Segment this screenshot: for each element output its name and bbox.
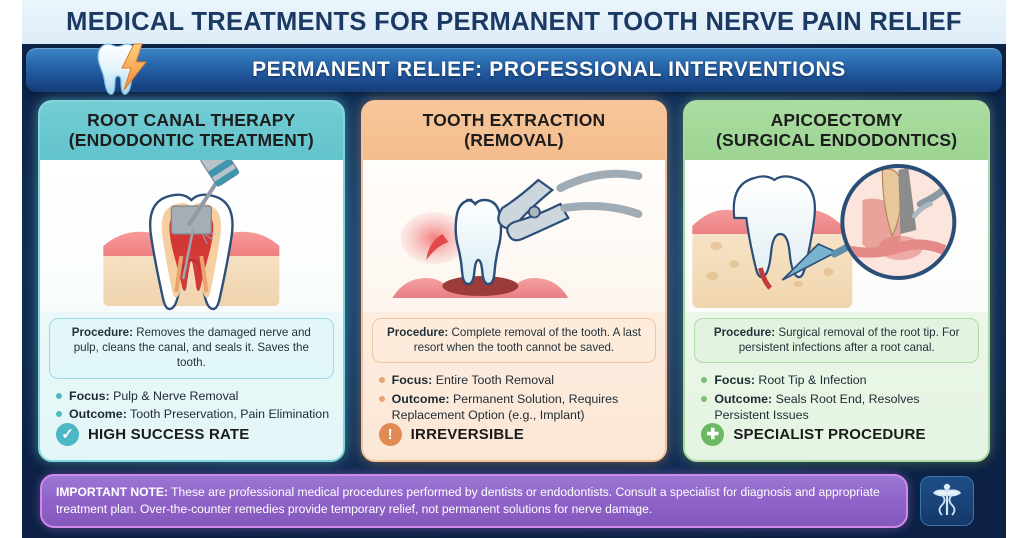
list-item: Outcome: Permanent Solution, Requires Re… (379, 391, 654, 424)
bullet-label: Outcome: (392, 392, 450, 406)
card-apicoectomy[interactable]: APICOECTOMY (SURGICAL ENDODONTICS) (683, 100, 990, 462)
bullet-list: Focus: Pulp & Nerve Removal Outcome: Too… (56, 388, 331, 425)
treatment-cards: ROOT CANAL THERAPY (ENDODONTIC TREATMENT… (38, 100, 990, 462)
card-title-line1: ROOT CANAL THERAPY (87, 110, 295, 130)
list-item: Outcome: Seals Root End, Resolves Persis… (701, 391, 976, 424)
card-title-line2: (ENDODONTIC TREATMENT) (48, 130, 335, 150)
bullet-dot-icon (379, 377, 385, 383)
procedure-box: Procedure: Surgical removal of the root … (694, 318, 979, 364)
bullet-value: Entire Tooth Removal (436, 373, 554, 387)
check-circle-icon: ✓ (56, 423, 79, 446)
status-badge-label: IRREVERSIBLE (411, 426, 524, 443)
bullet-dot-icon (56, 411, 62, 417)
status-badge: ! IRREVERSIBLE (379, 423, 524, 446)
important-note-label: IMPORTANT NOTE: (56, 485, 168, 499)
card-header: APICOECTOMY (SURGICAL ENDODONTICS) (685, 102, 988, 160)
bullet-label: Outcome: (69, 407, 127, 421)
status-badge: ✓ HIGH SUCCESS RATE (56, 423, 249, 446)
card-title-line2: (SURGICAL ENDODONTICS) (693, 130, 980, 150)
procedure-box: Procedure: Complete removal of the tooth… (372, 318, 657, 364)
bullet-label: Focus: (714, 373, 755, 387)
illustration-tooth-extraction (363, 160, 666, 312)
section-banner-label: PERMANENT RELIEF: PROFESSIONAL INTERVENT… (182, 58, 846, 82)
card-header: ROOT CANAL THERAPY (ENDODONTIC TREATMENT… (40, 102, 343, 160)
bullet-dot-icon (56, 393, 62, 399)
procedure-label: Procedure: (714, 326, 775, 339)
bullet-label: Focus: (392, 373, 433, 387)
card-title-line1: TOOTH EXTRACTION (423, 110, 606, 130)
bullet-dot-icon (379, 396, 385, 402)
bullet-value: Pulp & Nerve Removal (113, 389, 238, 403)
status-badge-label: SPECIALIST PROCEDURE (733, 426, 925, 443)
bullet-dot-icon (701, 396, 707, 402)
bullet-list: Focus: Entire Tooth Removal Outcome: Per… (379, 372, 654, 425)
procedure-label: Procedure: (387, 326, 448, 339)
plus-circle-icon: ✚ (701, 423, 724, 446)
caduceus-icon (930, 483, 964, 519)
list-item: Outcome: Tooth Preservation, Pain Elimin… (56, 406, 331, 422)
important-note: IMPORTANT NOTE: These are professional m… (40, 474, 908, 528)
card-root-canal-therapy[interactable]: ROOT CANAL THERAPY (ENDODONTIC TREATMENT… (38, 100, 345, 462)
status-badge: ✚ SPECIALIST PROCEDURE (701, 423, 925, 446)
page-title: MEDICAL TREATMENTS FOR PERMANENT TOOTH N… (22, 8, 1006, 37)
bullet-label: Focus: (69, 389, 110, 403)
illustration-root-canal (40, 160, 343, 312)
tooth-lightning-icon (84, 38, 166, 98)
procedure-box: Procedure: Removes the damaged nerve and… (49, 318, 334, 379)
important-note-text: These are professional medical procedure… (56, 485, 880, 516)
bullet-value: Tooth Preservation, Pain Elimination (130, 407, 329, 421)
card-title-line2: (REMOVAL) (371, 130, 658, 150)
bullet-label: Outcome: (714, 392, 772, 406)
infographic-root: MEDICAL TREATMENTS FOR PERMANENT TOOTH N… (0, 0, 1024, 538)
procedure-label: Procedure: (72, 326, 133, 339)
medical-badge (920, 476, 974, 526)
bullet-list: Focus: Root Tip & Infection Outcome: Sea… (701, 372, 976, 425)
list-item: Focus: Pulp & Nerve Removal (56, 388, 331, 404)
bullet-dot-icon (701, 377, 707, 383)
section-banner: PERMANENT RELIEF: PROFESSIONAL INTERVENT… (26, 48, 1002, 92)
procedure-text: Complete removal of the tooth. A last re… (414, 326, 641, 354)
list-item: Focus: Root Tip & Infection (701, 372, 976, 388)
list-item: Focus: Entire Tooth Removal (379, 372, 654, 388)
card-tooth-extraction[interactable]: TOOTH EXTRACTION (REMOVAL) (361, 100, 668, 462)
illustration-apicoectomy (685, 160, 988, 312)
card-title-line1: APICOECTOMY (771, 110, 903, 130)
status-badge-label: HIGH SUCCESS RATE (88, 426, 249, 443)
bullet-value: Root Tip & Infection (758, 373, 866, 387)
exclamation-circle-icon: ! (379, 423, 402, 446)
card-header: TOOTH EXTRACTION (REMOVAL) (363, 102, 666, 160)
